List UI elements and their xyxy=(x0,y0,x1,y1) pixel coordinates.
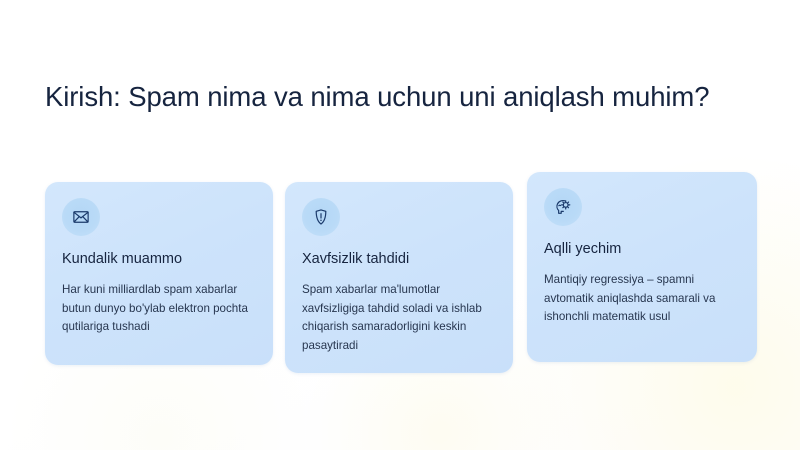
card-body: Mantiqiy regressiya – spamni avtomatik a… xyxy=(544,271,740,327)
card-body: Har kuni milliardlab spam xabarlar butun… xyxy=(62,281,256,337)
brain-gear-icon xyxy=(544,188,582,226)
card-title: Aqlli yechim xyxy=(544,240,740,259)
card-body: Spam xabarlar ma'lumotlar xavfsizligiga … xyxy=(302,281,496,356)
slide-canvas: Kirish: Spam nima va nima uchun uni aniq… xyxy=(0,0,800,450)
envelope-icon xyxy=(62,198,100,236)
shield-alert-icon xyxy=(302,198,340,236)
card-title: Kundalik muammo xyxy=(62,250,256,269)
feature-card: Kundalik muammo Har kuni milliardlab spa… xyxy=(45,182,273,365)
feature-card: Xavfsizlik tahdidi Spam xabarlar ma'lumo… xyxy=(285,182,513,373)
feature-card-row: Kundalik muammo Har kuni milliardlab spa… xyxy=(0,0,800,450)
feature-card: Aqlli yechim Mantiqiy regressiya – spamn… xyxy=(527,172,757,362)
card-title: Xavfsizlik tahdidi xyxy=(302,250,496,269)
